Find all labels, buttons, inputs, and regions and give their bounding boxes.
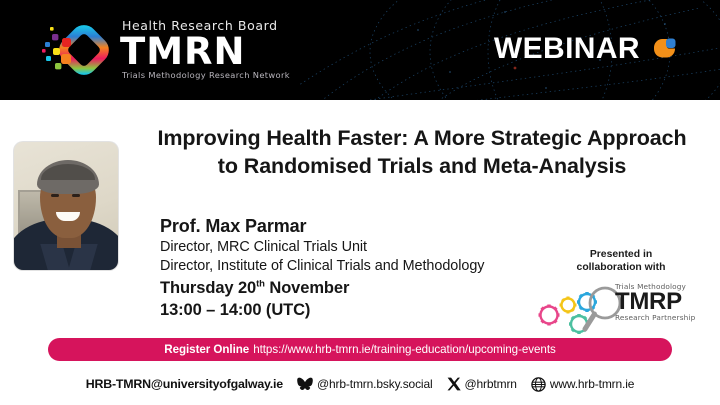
butterfly-icon — [297, 377, 313, 391]
webinar-label: WEBINAR — [494, 32, 640, 66]
register-label: Register Online — [164, 343, 249, 356]
register-bar[interactable]: Register Onlinehttps://www.hrb-tmrn.ie/t… — [48, 338, 672, 361]
bluesky-handle[interactable]: @hrb-tmrn.bsky.social — [317, 377, 433, 391]
tmrn-logo: Health Research Board TMRN Trials Method… — [40, 18, 290, 82]
webinar-badge: WEBINAR — [494, 32, 678, 66]
event-time: 13:00 – 14:00 (UTC) — [160, 299, 520, 321]
speaker-photo — [14, 142, 118, 270]
collaboration-block: Presented in collaboration with — [528, 248, 714, 339]
tmrp-acronym: TMRP — [615, 290, 707, 314]
x-handle[interactable]: @hrbtmrn — [465, 377, 517, 391]
x-twitter-icon — [447, 377, 461, 391]
website-url[interactable]: www.hrb-tmrn.ie — [550, 377, 634, 391]
contact-email[interactable]: HRB-TMRN@universityofgalway.ie — [86, 377, 283, 391]
speaker-details: Prof. Max Parmar Director, MRC Clinical … — [160, 214, 520, 321]
bluesky-contact[interactable]: @hrb-tmrn.bsky.social — [297, 377, 433, 391]
event-date-ordinal: th — [256, 278, 265, 289]
collaboration-line-1: Presented in — [528, 248, 714, 261]
collaboration-line-2: collaboration with — [528, 261, 714, 274]
tmrn-diamond-logo-icon — [40, 18, 112, 82]
tmrp-bottom-text: Research Partnership — [615, 314, 707, 321]
tmrp-logo: Trials Methodology TMRP Research Partner… — [535, 281, 707, 339]
website-contact[interactable]: www.hrb-tmrn.ie — [531, 377, 634, 392]
x-contact[interactable]: @hrbtmrn — [447, 377, 517, 391]
webinar-speech-bubble-icon — [651, 36, 678, 63]
event-date-suffix: November — [265, 279, 349, 297]
header-banner: Health Research Board TMRN Trials Method… — [0, 0, 720, 100]
speaker-name: Prof. Max Parmar — [160, 214, 520, 238]
globe-icon — [531, 377, 546, 392]
logo-tagline: Trials Methodology Research Network — [122, 71, 290, 79]
speaker-role-2: Director, Institute of Clinical Trials a… — [160, 257, 520, 276]
event-date: Thursday 20th November — [160, 277, 520, 299]
event-date-prefix: Thursday 20 — [160, 279, 256, 297]
register-url[interactable]: https://www.hrb-tmrn.ie/training-educati… — [253, 343, 556, 356]
main-content: Improving Health Faster: A More Strategi… — [0, 100, 720, 330]
page-title: Improving Health Faster: A More Strategi… — [148, 124, 696, 180]
webinar-poster: Health Research Board TMRN Trials Method… — [0, 0, 720, 405]
footer-contacts: HRB-TMRN@universityofgalway.ie @hrb-tmrn… — [0, 372, 720, 396]
speaker-role-1: Director, MRC Clinical Trials Unit — [160, 238, 520, 257]
logo-acronym: TMRN — [120, 33, 290, 71]
